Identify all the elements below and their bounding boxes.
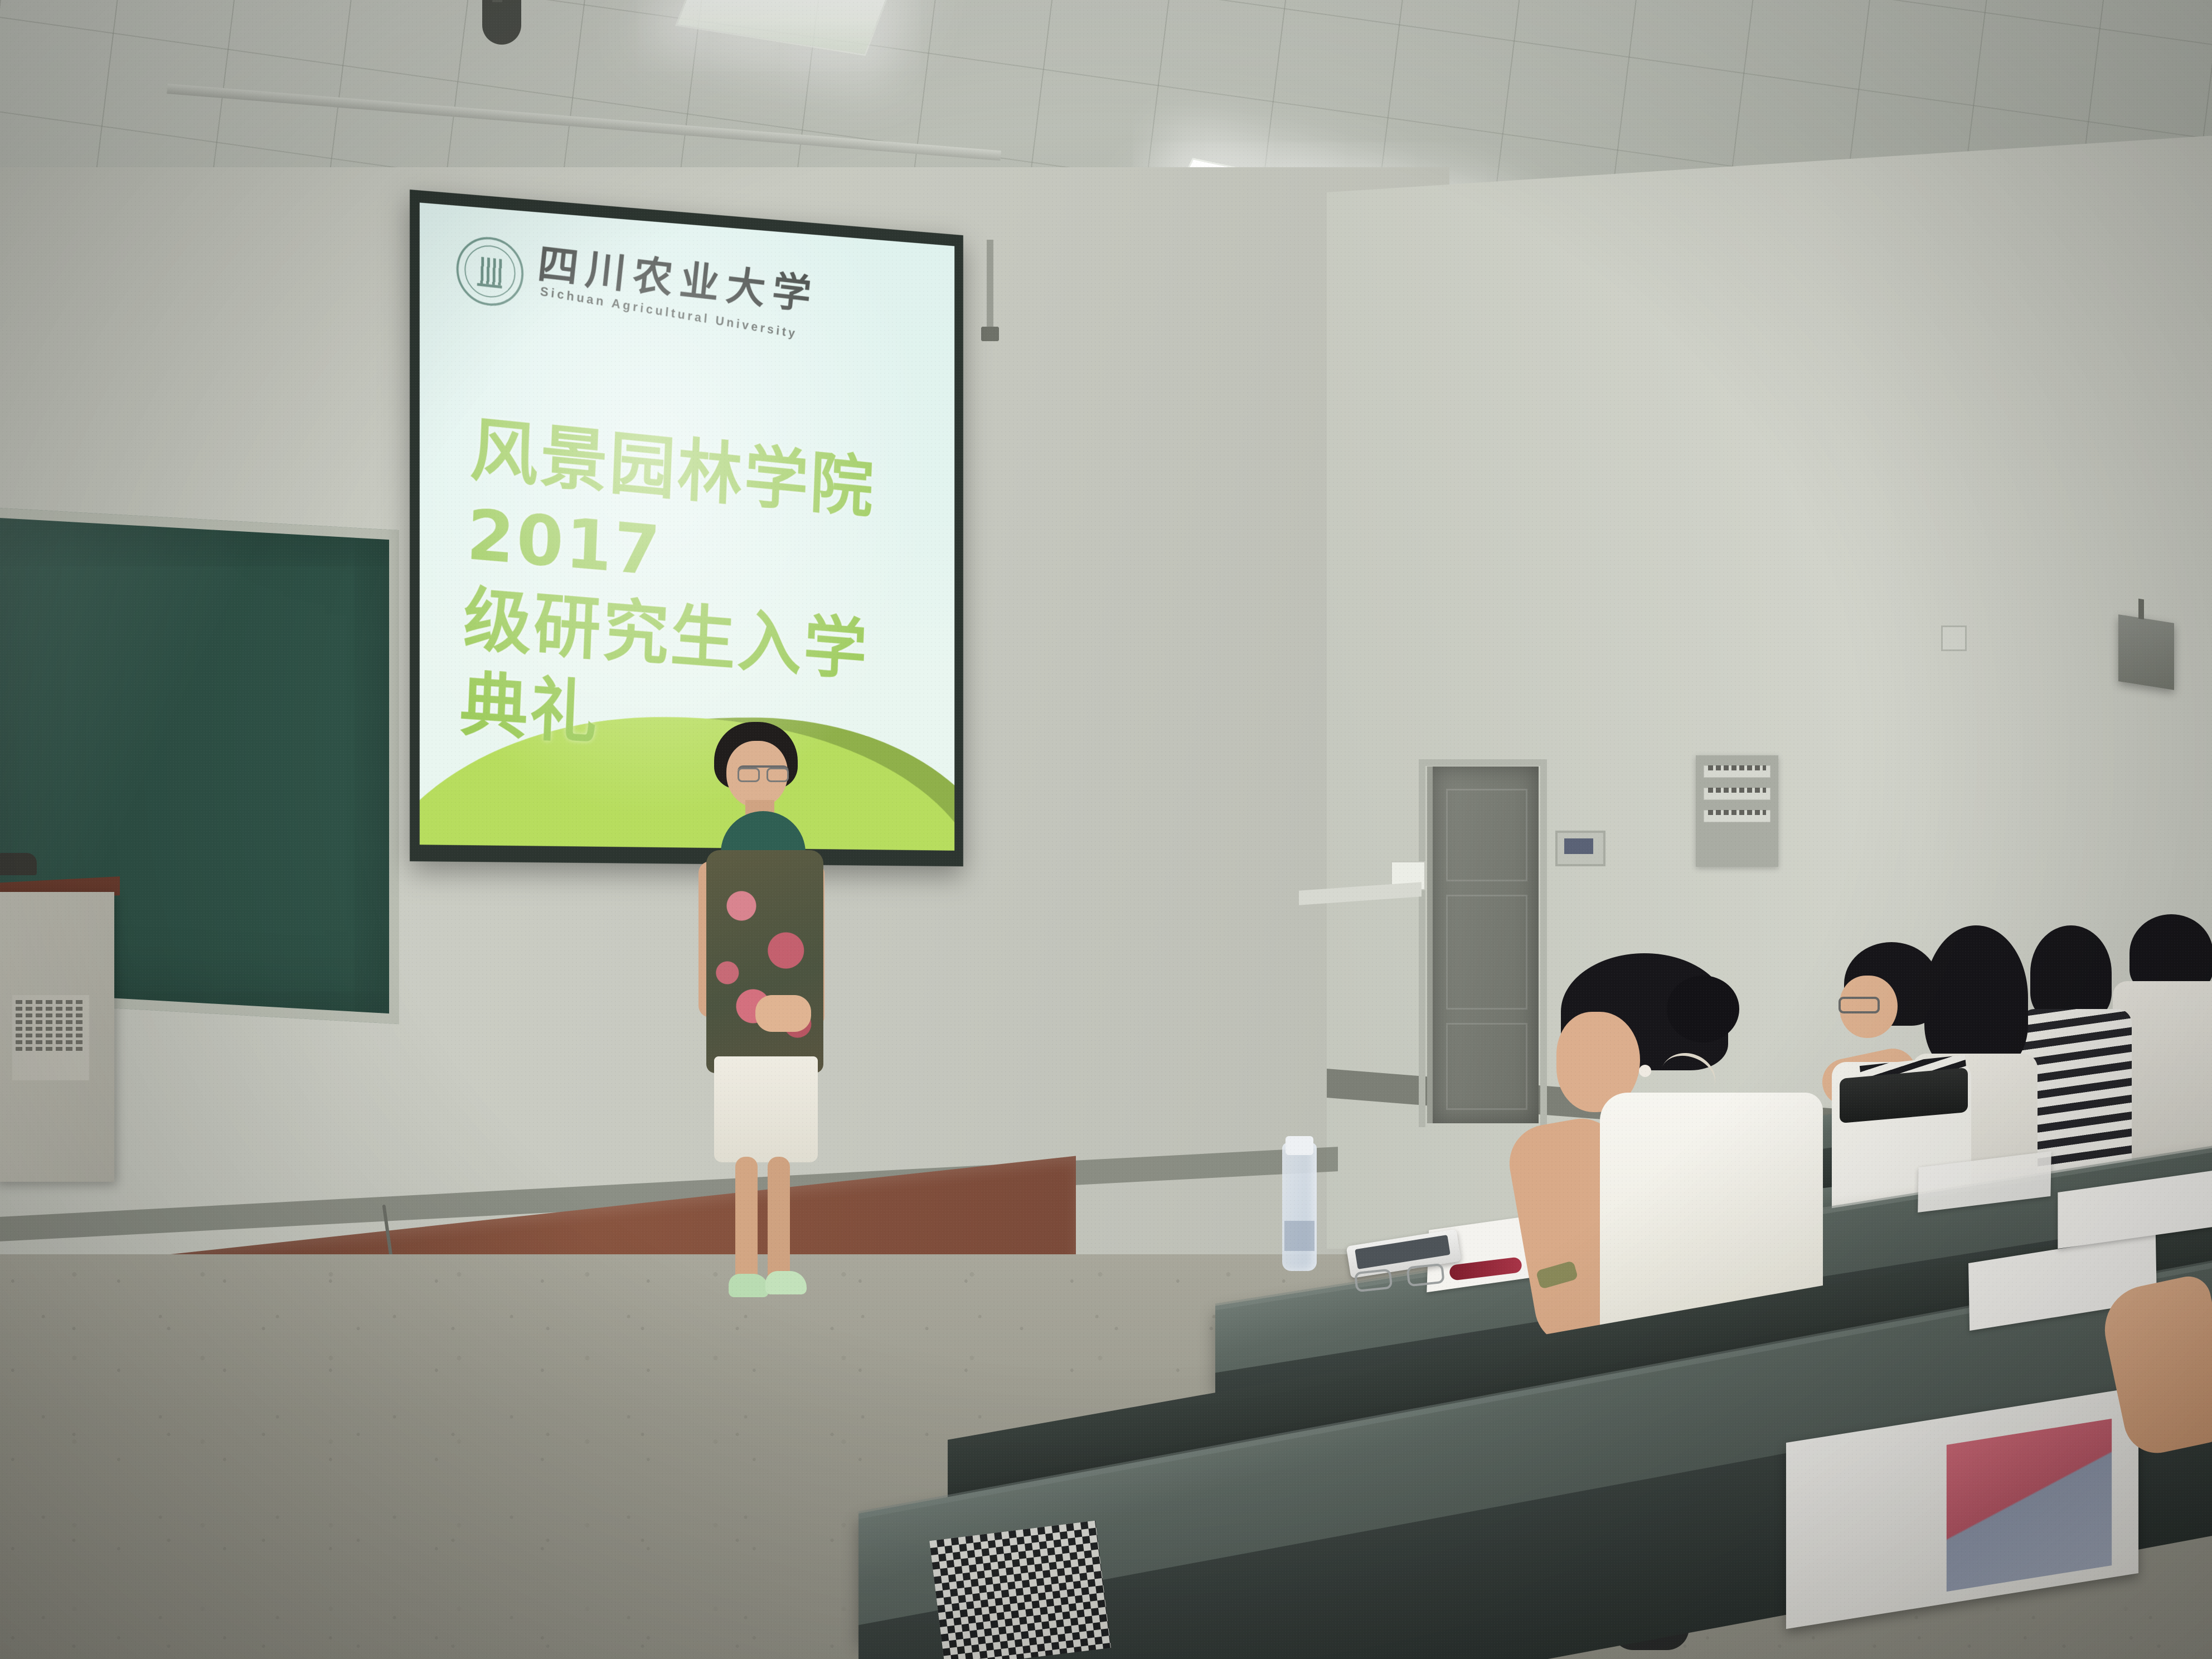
seal-emblem-icon	[477, 257, 503, 289]
presenter-glasses-icon	[738, 765, 789, 778]
university-name-chinese: 四川农业大学	[536, 243, 820, 316]
university-logo-text: 四川农业大学 Sichuan Agricultural University	[536, 243, 818, 337]
screen-bracket	[987, 240, 993, 329]
student-hair	[2030, 925, 2112, 1020]
student-hair	[2129, 914, 2212, 992]
water-bottle	[1282, 1143, 1317, 1271]
wall-speaker-icon	[2118, 614, 2174, 690]
wall-plaque	[1696, 755, 1778, 867]
power-outlet-icon-2	[1941, 625, 1967, 651]
projection-screen: 四川农业大学 Sichuan Agricultural University 风…	[410, 190, 963, 866]
lecture-hall-photo: 四川农业大学 Sichuan Agricultural University 风…	[0, 0, 2212, 1659]
presenter-shoe-right	[765, 1271, 807, 1294]
lectern-notice	[12, 995, 89, 1080]
lectern-microphone-icon	[0, 853, 37, 875]
presenter-hands	[755, 995, 811, 1032]
document-folder-cover-art	[1947, 1419, 2112, 1592]
front-row-hair-bun	[1667, 976, 1739, 1042]
presenter	[694, 722, 839, 1279]
presenter-skirt	[714, 1056, 818, 1162]
water-bottle-label	[1284, 1221, 1314, 1251]
ceiling-camera-icon	[482, 0, 521, 45]
front-row-earring-icon	[1639, 1065, 1651, 1077]
screen-frame: 四川农业大学 Sichuan Agricultural University 风…	[410, 190, 963, 866]
university-seal-icon	[455, 234, 525, 309]
presenter-leg-left	[735, 1157, 758, 1285]
water-bottle-cap	[1286, 1136, 1313, 1155]
presenter-shoe-left	[729, 1274, 769, 1297]
control-panel-display	[1564, 838, 1593, 854]
presenter-floral-top	[706, 850, 823, 1073]
presenter-leg-right	[768, 1157, 790, 1285]
checkered-cloth	[929, 1521, 1111, 1659]
wall-control-panel[interactable]	[1555, 831, 1605, 866]
presentation-slide: 四川农业大学 Sichuan Agricultural University 风…	[420, 202, 954, 850]
university-logo: 四川农业大学 Sichuan Agricultural University	[455, 234, 819, 342]
